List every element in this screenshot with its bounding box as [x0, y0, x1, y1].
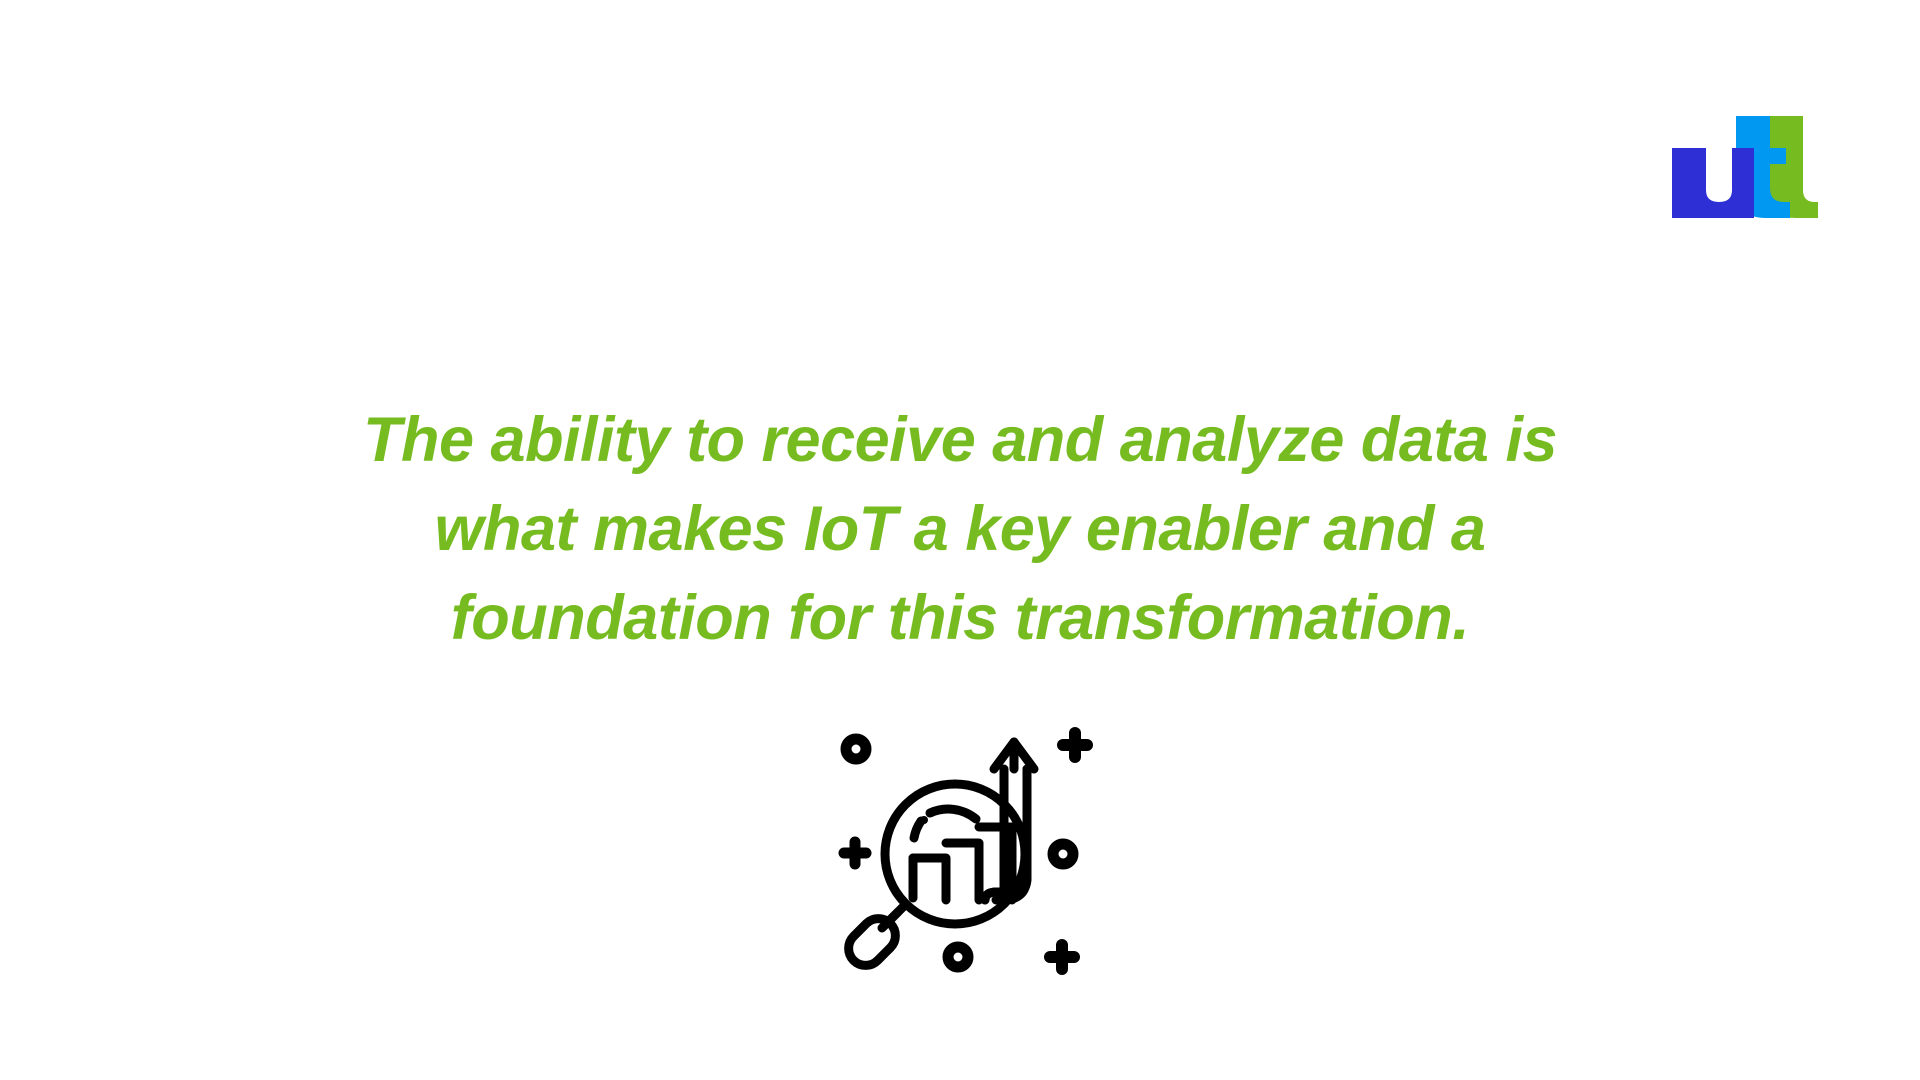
- decor-ring-top-left: [846, 739, 866, 759]
- lens-shine-dot: [920, 816, 928, 824]
- decor-plus-middle-left: [844, 842, 866, 864]
- decor-plus-top-right: [1063, 733, 1087, 757]
- decor-ring-bottom-center: [948, 947, 968, 967]
- decor-ring-middle-right: [1053, 844, 1073, 864]
- quote-line-3: foundation for this transformation.: [0, 574, 1920, 663]
- slide-canvas: The ability to receive and analyze data …: [0, 0, 1920, 1080]
- decor-plus-bottom-right: [1050, 945, 1074, 969]
- utl-logo: [1658, 108, 1818, 218]
- chart-bar-1: [913, 858, 946, 900]
- chart-bar-2: [946, 843, 979, 900]
- quote-line-1: The ability to receive and analyze data …: [0, 396, 1920, 485]
- magnifier-handle: [842, 904, 906, 972]
- magnifier-bar-chart-growth-icon: [818, 712, 1108, 1002]
- quote-text: The ability to receive and analyze data …: [0, 396, 1920, 663]
- quote-line-2: what makes IoT a key enabler and a: [0, 485, 1920, 574]
